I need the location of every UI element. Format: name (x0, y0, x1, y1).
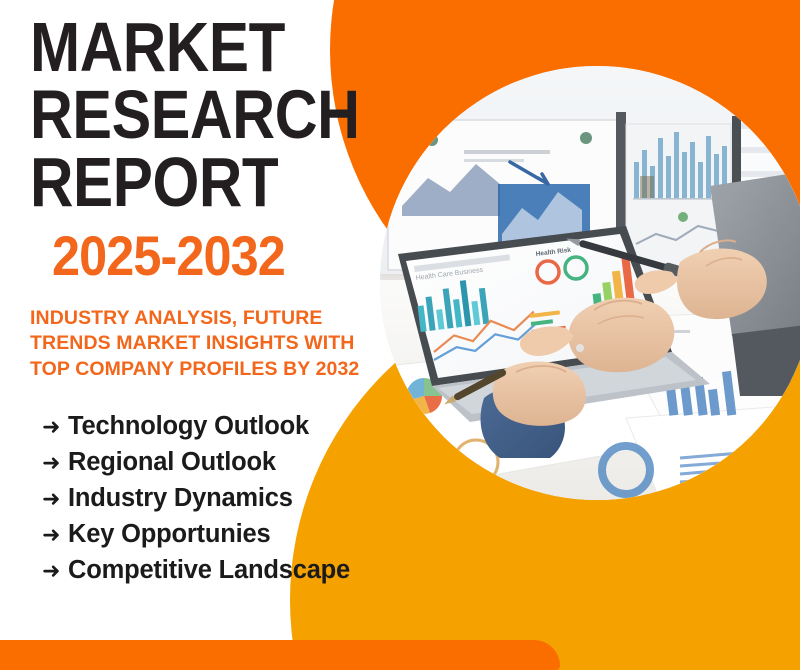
page-title-line-1: MARKET (30, 14, 374, 82)
page-title-line-2: RESEARCH (30, 82, 374, 149)
list-item-label: Regional Outlook (68, 445, 276, 481)
arrow-bullet-icon: ➜ (42, 411, 68, 442)
report-year-range: 2025-2032 (52, 227, 392, 286)
report-subtitle: INDUSTRY ANALYSIS, FUTURE TRENDS MARKET … (30, 306, 390, 384)
list-item-label: Technology Outlook (68, 409, 309, 445)
list-item: ➜ Technology Outlook (42, 409, 430, 445)
list-item: ➜ Industry Dynamics (42, 481, 430, 517)
photo-artwork: Health Care Business (380, 66, 800, 500)
orange-footer-bar (0, 640, 560, 670)
list-item-label: Key Opportunies (68, 517, 270, 553)
business-meeting-photo: Health Care Business (380, 66, 800, 500)
list-item: ➜ Regional Outlook (42, 445, 430, 481)
arrow-bullet-icon: ➜ (42, 483, 68, 514)
page-title-line-3: REPORT (30, 149, 374, 217)
list-item-label: Industry Dynamics (68, 481, 293, 517)
list-item: ➜ Competitive Landscape (42, 553, 430, 589)
arrow-bullet-icon: ➜ (42, 519, 68, 550)
arrow-bullet-icon: ➜ (42, 447, 68, 478)
list-item: ➜ Key Opportunies (42, 517, 430, 553)
list-item-label: Competitive Landscape (68, 553, 350, 589)
arrow-bullet-icon: ➜ (42, 555, 68, 586)
report-highlights-list: ➜ Technology Outlook ➜ Regional Outlook … (42, 409, 430, 589)
poster-text-column: MARKET RESEARCH REPORT 2025-2032 INDUSTR… (30, 14, 430, 589)
report-cover-poster: Health Care Business (0, 0, 800, 670)
